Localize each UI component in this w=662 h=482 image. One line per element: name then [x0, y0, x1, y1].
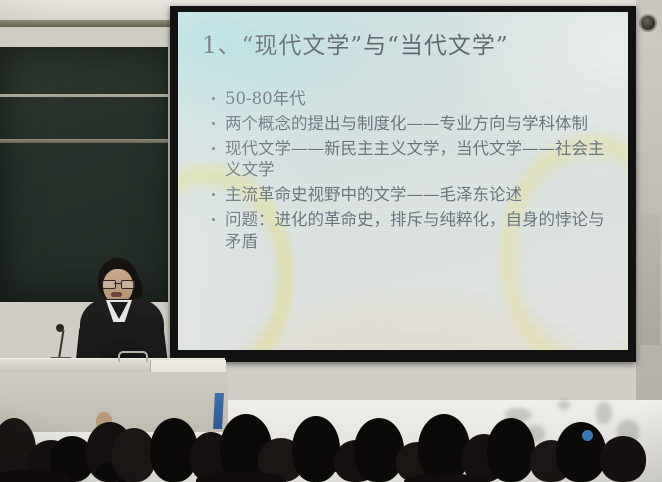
- wall-scuff: [596, 402, 612, 424]
- hair-clip-icon: [582, 430, 593, 441]
- lecturer-arm-left: [76, 319, 106, 363]
- glasses-lens-left: [102, 280, 116, 289]
- audience-shoulder: [0, 470, 70, 482]
- audience-head: [292, 416, 340, 482]
- audience-shoulder: [196, 472, 286, 482]
- audience-head: [600, 436, 646, 482]
- glasses-lens-right: [121, 280, 135, 289]
- slide-bullet-item: 主流革命史视野中的文学——毛泽东论述: [210, 184, 610, 206]
- lecture-hall-photo: 1、“现代文学”与“当代文学” 50-80年代 两个概念的提出与制度化——专业方…: [0, 0, 662, 482]
- chalkboard-top-rail: [0, 94, 176, 97]
- projection-screen-frame: 1、“现代文学”与“当代文学” 50-80年代 两个概念的提出与制度化——专业方…: [170, 6, 636, 362]
- slide-bullet-item: 问题：进化的革命史，排斥与纯粹化，自身的悖论与矛盾: [210, 209, 610, 253]
- right-wall-panel: [640, 215, 660, 345]
- blue-banner: [213, 393, 224, 429]
- glasses-bridge: [114, 283, 121, 284]
- audience-shoulder: [404, 474, 490, 482]
- lecturer-mouth: [111, 292, 122, 297]
- slide-title: 1、“现代文学”与“当代文学”: [202, 34, 610, 59]
- audience-head: [487, 418, 535, 482]
- wall-speaker-icon: [641, 16, 655, 30]
- audience-head: [354, 418, 404, 482]
- lecturer: [76, 258, 168, 362]
- slide-bullet-list: 50-80年代 两个概念的提出与制度化——专业方向与学科体制 现代文学——新民主…: [210, 88, 610, 255]
- chalkboard-mid-rail: [0, 139, 176, 143]
- wall-scuff: [558, 400, 570, 410]
- podium-handle: [118, 351, 148, 362]
- slide-content: 1、“现代文学”与“当代文学” 50-80年代 两个概念的提出与制度化——专业方…: [178, 12, 628, 350]
- slide-bullet-item: 50-80年代: [210, 88, 610, 110]
- glasses-icon: [102, 280, 134, 287]
- audience-head: [418, 414, 470, 482]
- audience-head: [556, 422, 606, 482]
- slide-bullet-item: 两个概念的提出与制度化——专业方向与学科体制: [210, 113, 610, 135]
- projection-screen-surface: 1、“现代文学”与“当代文学” 50-80年代 两个概念的提出与制度化——专业方…: [178, 12, 628, 350]
- slide-bullet-item: 现代文学——新民主主义文学，当代文学——社会主义文学: [210, 138, 610, 182]
